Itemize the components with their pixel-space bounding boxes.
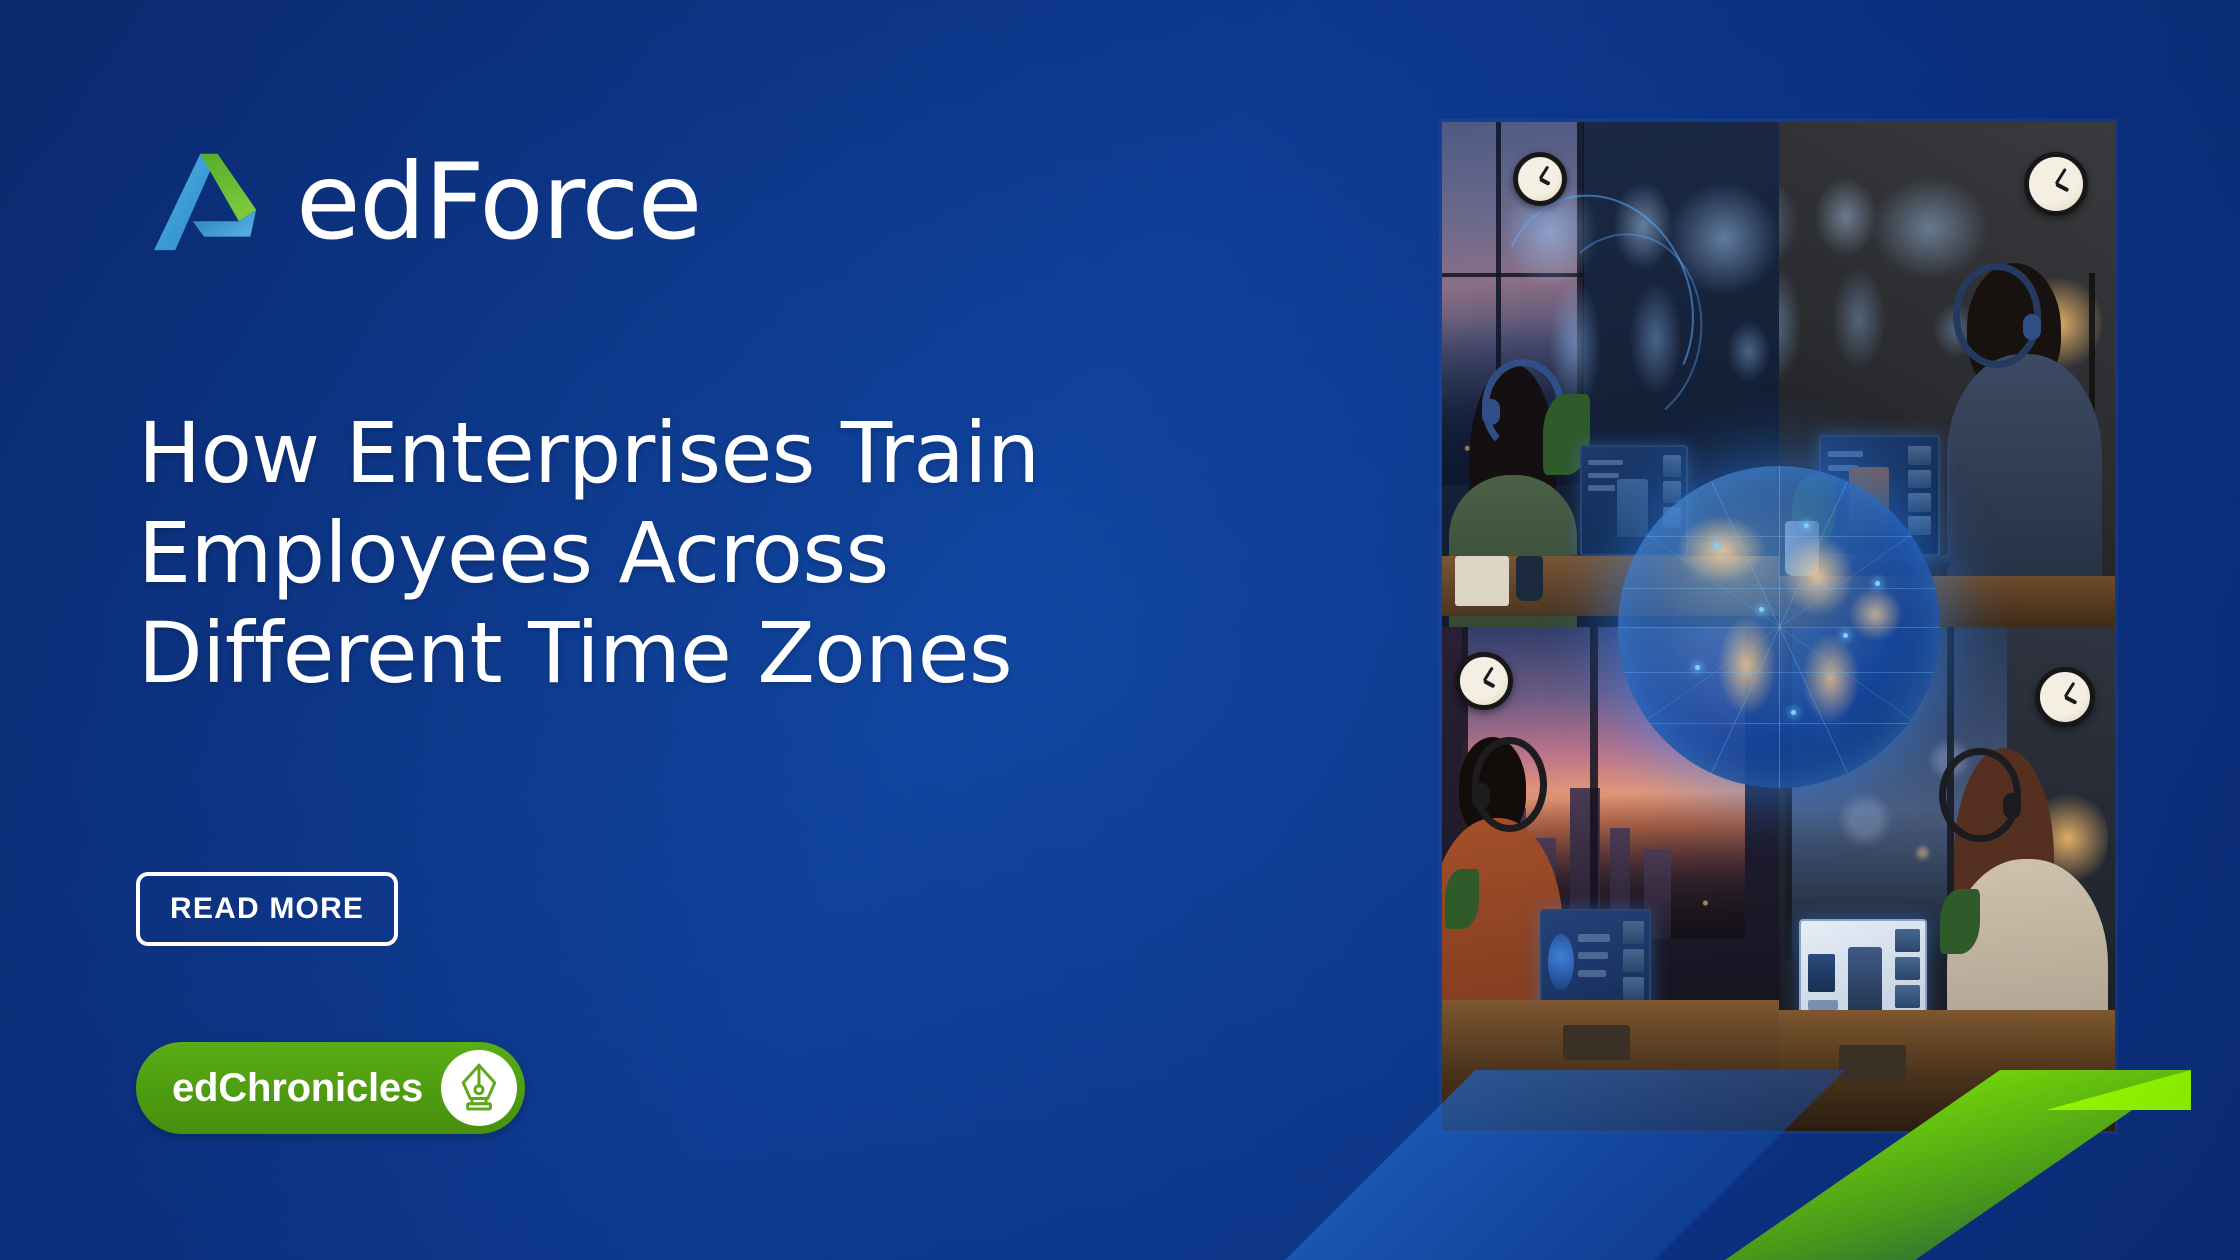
pen-nib-icon [441,1050,517,1126]
edchronicles-badge[interactable]: edChronicles [136,1042,525,1134]
left-content-column: edForce How Enterprises Train Employees … [0,0,1300,1260]
edchronicles-label: edChronicles [172,1066,423,1111]
promo-banner: edForce How Enterprises Train Employees … [0,0,2240,1260]
digital-globe-graphic [1618,466,1940,788]
brand-logo[interactable]: edForce [150,150,701,254]
pen-nib-glyph [451,1060,507,1116]
edforce-logo-mark-icon [150,150,266,254]
headline-line-1: How Enterprises Train [138,404,1228,504]
headline-line-2: Employees Across [138,504,1228,604]
headline-line-3: Different Time Zones [138,604,1228,704]
headline: How Enterprises Train Employees Across D… [138,404,1228,704]
hero-image-collage [1442,122,2115,1131]
read-more-button[interactable]: READ MORE [136,872,398,946]
brand-logo-text: edForce [296,154,701,251]
